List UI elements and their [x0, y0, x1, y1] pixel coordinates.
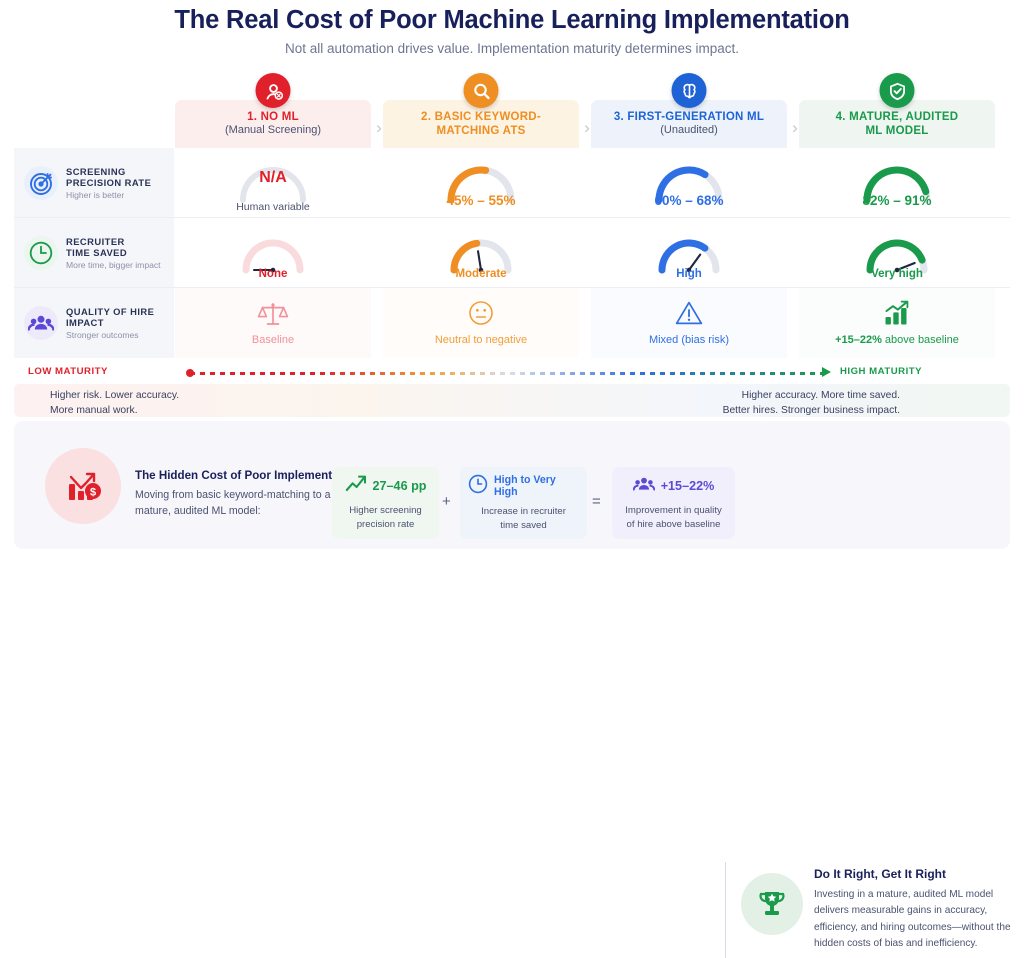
maturity-start-dot — [186, 369, 194, 377]
equation-term-2[interactable]: High to Very HighIncrease in recruiterti… — [460, 467, 587, 539]
matrix-row-2: RECRUITERTIME SAVEDMore time, bigger imp… — [14, 218, 1010, 288]
chevron-right-icon-2: › — [579, 118, 595, 138]
column-header-4[interactable]: 4. MATURE, AUDITEDML MODEL — [799, 100, 995, 148]
matrix-rows: SCREENINGPRECISION RATEHigher is betterN… — [14, 148, 1010, 358]
clock-small-icon — [468, 474, 488, 499]
impact-indicator: +15–22% above baseline — [835, 300, 959, 346]
neutral-face-icon — [468, 300, 494, 331]
row-subtitle: More time, bigger impact — [66, 260, 161, 270]
row-label-1: SCREENINGPRECISION RATEHigher is better — [14, 148, 174, 218]
hidden-cost-subtitle: Moving from basic keyword-matching to a … — [135, 487, 335, 520]
maturity-end-arrow — [822, 367, 831, 377]
column-subtitle: MATCHING ATS — [436, 124, 525, 138]
declining-bar-chart-dollar-icon: $ — [45, 448, 121, 524]
equation-term-1[interactable]: 27–46 ppHigher screeningprecision rate — [332, 467, 439, 539]
precision-gauge: 45% – 55% — [439, 160, 523, 206]
column-headers: 1. NO ML(Manual Screening)2. BASIC KEYWO… — [14, 100, 1010, 148]
column-title: 4. MATURE, AUDITED — [836, 110, 959, 124]
page-title: The Real Cost of Poor Machine Learning I… — [0, 6, 1024, 35]
maturity-left-text: Higher risk. Lower accuracy. More manual… — [50, 389, 179, 419]
maturity-left-line1: Higher risk. Lower accuracy. — [50, 389, 179, 404]
maturity-axis: LOW MATURITY HIGH MATURITY Higher risk. … — [14, 365, 1010, 413]
equation-description: Improvement in qualityof hire above base… — [625, 504, 722, 532]
cell-r1-c3[interactable]: 60% – 68% — [591, 148, 787, 218]
row-label-3: QUALITY OF HIREIMPACTStronger outcomes — [14, 288, 174, 358]
cell-r1-c1[interactable]: N/AHuman variable — [175, 148, 371, 218]
equation-operator-1: + — [442, 493, 451, 510]
cell-value: Very high — [855, 268, 939, 280]
row-subtitle: Stronger outcomes — [66, 330, 154, 340]
column-title: 2. BASIC KEYWORD- — [421, 110, 541, 124]
time-saved-gauge: Moderate — [439, 230, 523, 276]
maturity-right-text: Higher accuracy. More time saved. Better… — [723, 389, 900, 419]
cell-value: N/A — [231, 169, 315, 187]
cell-value: Moderate — [439, 268, 523, 280]
column-subtitle: ML MODEL — [865, 124, 928, 138]
precision-gauge: 60% – 68% — [647, 160, 731, 206]
cell-value: 60% – 68% — [647, 193, 731, 208]
column-subtitle: (Unaudited) — [660, 124, 717, 138]
user-blocked-icon — [256, 73, 291, 108]
row-title-2: TIME SAVED — [66, 247, 161, 258]
row-subtitle: Higher is better — [66, 190, 151, 200]
time-saved-gauge: None — [231, 230, 315, 276]
cell-r1-c4[interactable]: 82% – 91% — [799, 148, 995, 218]
equation-term-3[interactable]: +15–22%Improvement in qualityof hire abo… — [612, 467, 735, 539]
scales-icon — [257, 300, 289, 331]
cell-r2-c4[interactable]: Very high — [799, 218, 995, 288]
do-it-right-body: Investing in a mature, audited ML model … — [814, 887, 1019, 952]
cell-r3-c2[interactable]: Neutral to negative — [383, 288, 579, 358]
impact-indicator: Neutral to negative — [435, 300, 527, 346]
maturity-right-line1: Higher accuracy. More time saved. — [723, 389, 900, 404]
cell-value: None — [231, 268, 315, 280]
maturity-left-line2: More manual work. — [50, 404, 179, 419]
equation-description: Increase in recruitertime saved — [481, 505, 566, 533]
column-subtitle: (Manual Screening) — [225, 124, 321, 138]
page-subtitle: Not all automation drives value. Impleme… — [0, 41, 1024, 56]
cell-r3-c4[interactable]: +15–22% above baseline — [799, 288, 995, 358]
row-title-2: PRECISION RATE — [66, 177, 151, 188]
chevron-right-icon-1: › — [371, 118, 387, 138]
time-saved-gauge: High — [647, 230, 731, 276]
row-title: RECRUITER — [66, 236, 161, 247]
impact-indicator: Mixed (bias risk) — [649, 300, 729, 346]
column-title: 3. FIRST-GENERATION ML — [614, 110, 764, 124]
target-icon — [24, 166, 58, 200]
cell-value: +15–22% above baseline — [835, 334, 959, 346]
column-header-2[interactable]: 2. BASIC KEYWORD-MATCHING ATS — [383, 100, 579, 148]
equation-value: +15–22% — [661, 479, 715, 493]
matrix-row-3: QUALITY OF HIREIMPACTStronger outcomesBa… — [14, 288, 1010, 358]
cell-value: Mixed (bias risk) — [649, 334, 729, 346]
cell-value: Baseline — [252, 334, 294, 346]
cell-r3-c1[interactable]: Baseline — [175, 288, 371, 358]
maturity-matrix: 1. NO ML(Manual Screening)2. BASIC KEYWO… — [14, 100, 1010, 360]
shield-check-icon — [880, 73, 915, 108]
cell-value: Neutral to negative — [435, 334, 527, 346]
warning-triangle-icon — [675, 300, 703, 331]
column-title: 1. NO ML — [247, 110, 299, 124]
equation-operator-2: = — [592, 493, 601, 510]
equation-description: Higher screeningprecision rate — [349, 504, 422, 532]
matrix-row-1: SCREENINGPRECISION RATEHigher is betterN… — [14, 148, 1010, 218]
time-saved-gauge: Very high — [855, 230, 939, 276]
column-header-3[interactable]: 3. FIRST-GENERATION ML(Unaudited) — [591, 100, 787, 148]
svg-text:$: $ — [90, 487, 96, 499]
brain-icon — [672, 73, 707, 108]
equation-value: High to Very High — [494, 474, 579, 498]
people-icon — [24, 306, 58, 340]
maturity-right-line2: Better hires. Stronger business impact. — [723, 404, 900, 419]
impact-indicator: Baseline — [252, 300, 294, 346]
row-title: QUALITY OF HIRE — [66, 306, 154, 317]
maturity-gradient-line — [190, 372, 828, 375]
people-small-icon — [633, 475, 655, 498]
cell-value: High — [647, 268, 731, 280]
hidden-cost-title: The Hidden Cost of Poor Implementation — [135, 469, 360, 482]
trend-up-icon — [345, 474, 367, 498]
cell-r3-c3[interactable]: Mixed (bias risk) — [591, 288, 787, 358]
row-title-2: IMPACT — [66, 317, 154, 328]
do-it-right-title: Do It Right, Get It Right — [814, 867, 946, 881]
equation-value: 27–46 pp — [373, 479, 427, 493]
cell-value: 82% – 91% — [855, 193, 939, 208]
gauge-na: N/AHuman variable — [231, 160, 315, 206]
infographic-page: The Real Cost of Poor Machine Learning I… — [0, 0, 1024, 562]
cell-r1-c2[interactable]: 45% – 55% — [383, 148, 579, 218]
low-maturity-label: LOW MATURITY — [28, 366, 108, 377]
summary-panel: $ The Hidden Cost of Poor Implementation… — [14, 421, 1010, 549]
cell-subtext: Human variable — [231, 201, 315, 213]
magnifier-icon — [464, 73, 499, 108]
panel-divider — [725, 862, 726, 958]
high-maturity-label: HIGH MATURITY — [840, 366, 922, 377]
cell-r2-c2[interactable]: Moderate — [383, 218, 579, 288]
column-header-1[interactable]: 1. NO ML(Manual Screening) — [175, 100, 371, 148]
row-title: SCREENING — [66, 166, 151, 177]
clock-icon — [24, 236, 58, 270]
trophy-icon — [741, 873, 803, 935]
cell-r2-c1[interactable]: None — [175, 218, 371, 288]
cell-value: 45% – 55% — [439, 193, 523, 208]
bar-chart-up-icon — [884, 300, 910, 331]
row-label-2: RECRUITERTIME SAVEDMore time, bigger imp… — [14, 218, 174, 288]
precision-gauge: 82% – 91% — [855, 160, 939, 206]
cell-r2-c3[interactable]: High — [591, 218, 787, 288]
chevron-right-icon-3: › — [787, 118, 803, 138]
